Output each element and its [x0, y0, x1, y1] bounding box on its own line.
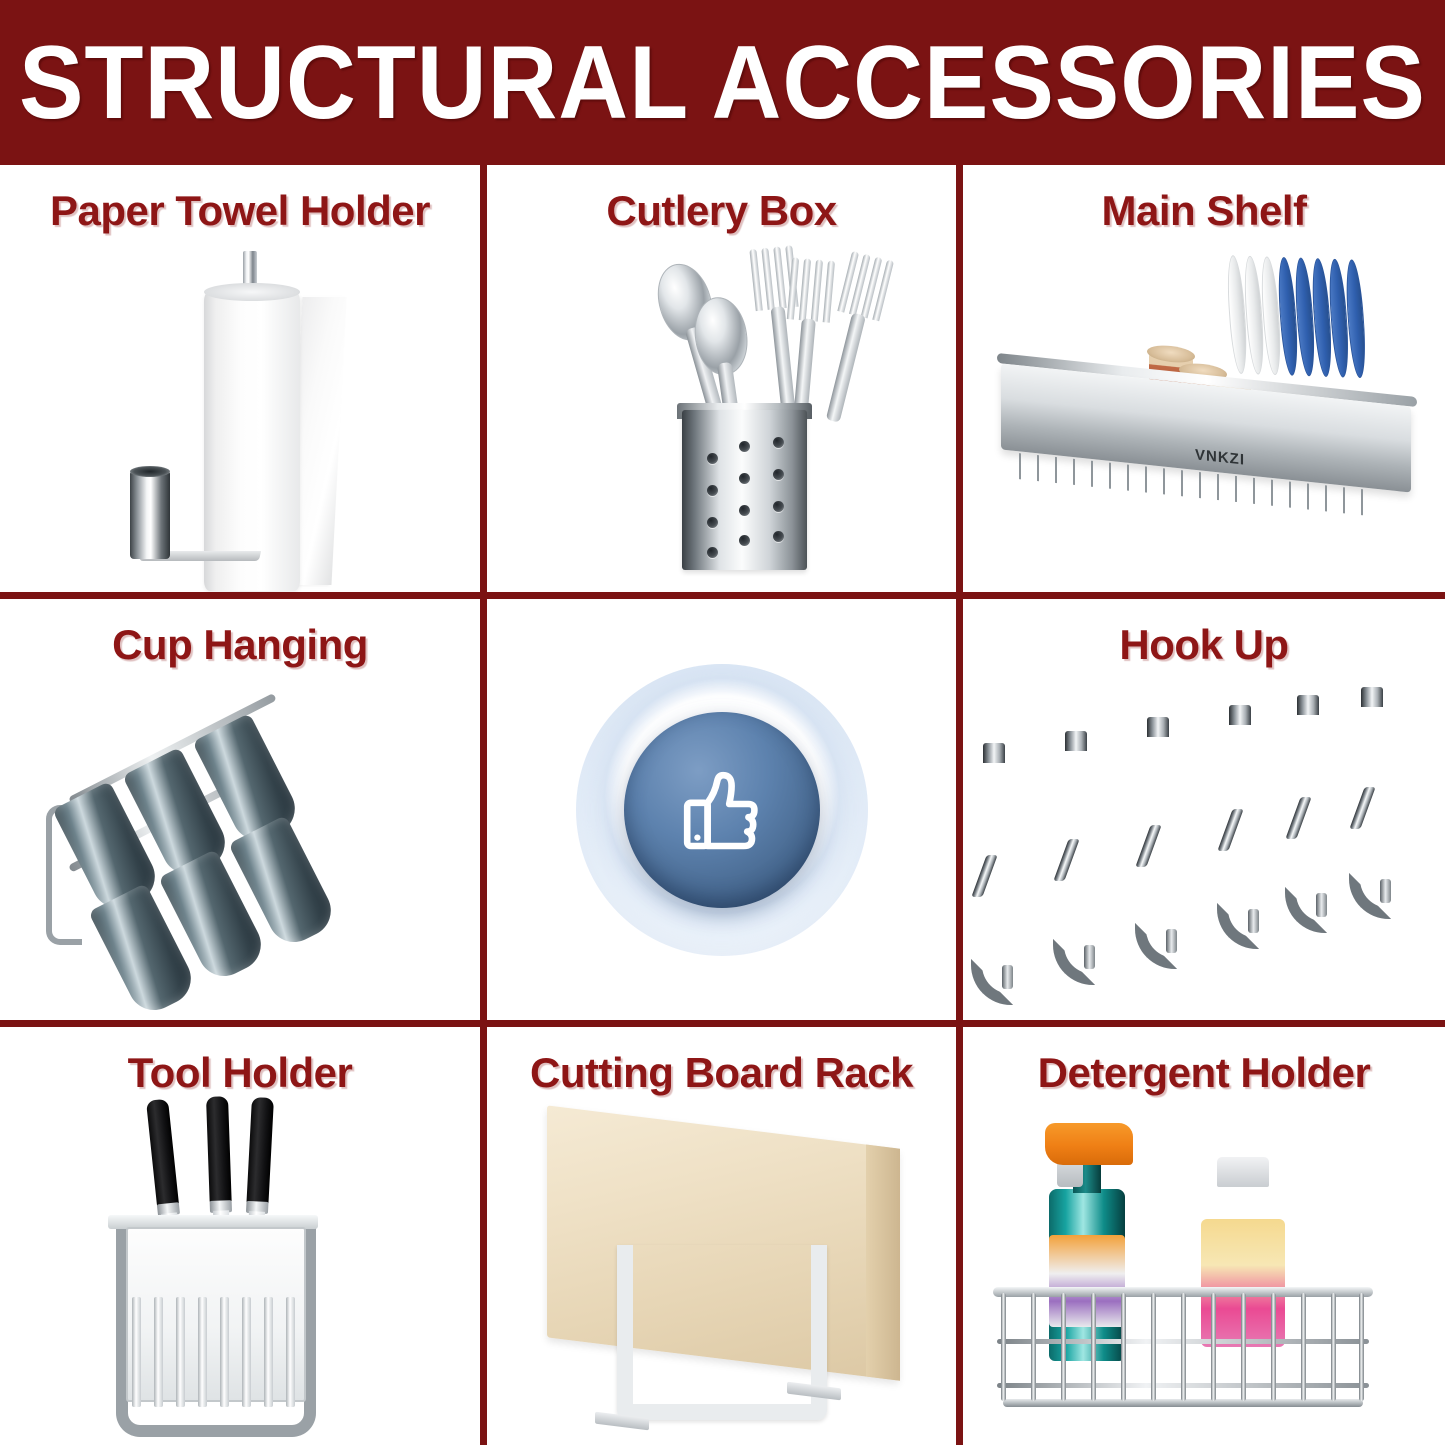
- product-image-cutlery-box: [487, 235, 956, 592]
- product-image-tool-holder: [0, 1097, 480, 1445]
- detergent-bottle-cap: [1217, 1157, 1269, 1187]
- hook-stem: [989, 757, 1000, 857]
- hook-jog: [1135, 825, 1161, 867]
- product-image-main-shelf: VNKZI: [963, 235, 1445, 592]
- cell-title-paper-towel-holder: Paper Towel Holder: [50, 187, 430, 235]
- cell-title-main-shelf: Main Shelf: [1101, 187, 1306, 235]
- cell-paper-towel-holder: Paper Towel Holder: [0, 165, 480, 592]
- cutlery-box-drain-holes: [703, 437, 789, 547]
- cell-title-cutlery-box: Cutlery Box: [606, 187, 836, 235]
- fork-handle: [826, 313, 866, 423]
- hook-tip: [1166, 929, 1177, 953]
- hook-tip: [1380, 879, 1391, 903]
- cell-title-hook-up: Hook Up: [1119, 621, 1288, 669]
- paper-towel-roll: [204, 291, 300, 591]
- cell-title-tool-holder: Tool Holder: [128, 1049, 353, 1097]
- product-image-center-badge: [487, 599, 956, 1020]
- page-title: STRUCTURAL ACCESSORIES: [19, 31, 1426, 135]
- cell-cup-hanging: Cup Hanging: [0, 592, 480, 1020]
- cell-tool-holder: Tool Holder: [0, 1020, 480, 1445]
- cell-title-cutting-board-rack: Cutting Board Rack: [530, 1049, 913, 1097]
- product-image-detergent-holder: [963, 1097, 1445, 1445]
- cell-main-shelf: Main Shelf: [963, 165, 1445, 592]
- infographic-page: STRUCTURAL ACCESSORIES Paper Towel Holde…: [0, 0, 1445, 1445]
- product-image-cutting-board-rack: [487, 1097, 956, 1445]
- spoon-icon: [690, 294, 752, 378]
- cell-title-detergent-holder: Detergent Holder: [1038, 1049, 1371, 1097]
- hook-stem: [1153, 731, 1164, 827]
- hook-group: [963, 669, 1445, 1020]
- utensil-cup: [130, 471, 170, 559]
- spray-trigger-icon: [1045, 1123, 1133, 1165]
- cell-center-badge: [480, 592, 963, 1020]
- hook-jog: [971, 855, 997, 897]
- knife-handle: [246, 1097, 274, 1206]
- knife-handle: [206, 1096, 232, 1205]
- cell-hook-up: Hook Up: [963, 592, 1445, 1020]
- hook-stem: [1071, 745, 1082, 841]
- hook-stem: [1367, 701, 1378, 789]
- header-banner: STRUCTURAL ACCESSORIES: [0, 0, 1445, 165]
- fork-icon: [835, 251, 895, 332]
- tool-holder-slots: [132, 1297, 300, 1407]
- hook-tip: [1002, 965, 1013, 989]
- wire-basket: [993, 1287, 1373, 1407]
- product-image-paper-towel-holder: [0, 235, 480, 592]
- knife-handle: [146, 1099, 179, 1209]
- product-image-cup-hanging: [0, 669, 480, 1020]
- fork-icon: [786, 257, 836, 333]
- hook-jog: [1053, 839, 1079, 881]
- hook-jog: [1217, 809, 1243, 851]
- hook-jog: [1285, 797, 1311, 839]
- cell-cutlery-box: Cutlery Box: [480, 165, 963, 592]
- hook-jog: [1349, 787, 1375, 829]
- hook-tip: [1248, 909, 1259, 933]
- hook-tip: [1316, 893, 1327, 917]
- dish-rack: VNKZI: [963, 235, 1445, 592]
- product-image-hook-up: [963, 669, 1445, 1020]
- cell-cutting-board-rack: Cutting Board Rack: [480, 1020, 963, 1445]
- thumbs-up-icon: [662, 750, 782, 870]
- hook-stem: [1235, 719, 1246, 811]
- cell-detergent-holder: Detergent Holder: [963, 1020, 1445, 1445]
- cell-title-cup-hanging: Cup Hanging: [112, 621, 368, 669]
- product-feature-grid: Paper Towel Holder Cutlery Box: [0, 165, 1445, 1445]
- hook-tip: [1084, 945, 1095, 969]
- badge-circle: [624, 712, 820, 908]
- thumbs-up-badge: [572, 660, 872, 960]
- cutlery-group: [667, 245, 837, 425]
- hook-stem: [1303, 709, 1314, 799]
